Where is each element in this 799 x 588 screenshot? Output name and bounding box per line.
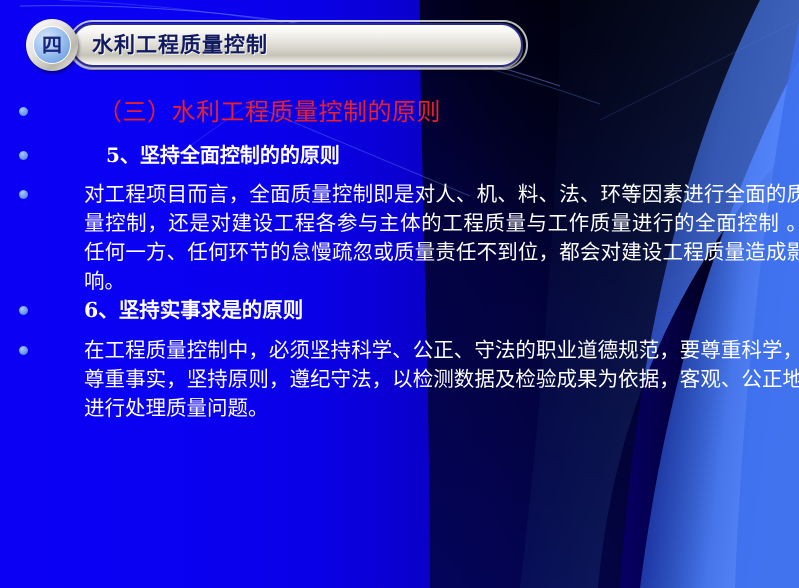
bullet-item-5: 5、坚持全面控制的的原则 <box>0 140 799 170</box>
bullet-text: 5、坚持全面控制的的原则 <box>42 140 799 170</box>
bullet-text: 6、坚持实事求是的原则 <box>42 296 799 325</box>
bullet-item-5-body: 对工程项目而言，全面质量控制即是对人、机、料、法、环等因素进行全面的质量控制，还… <box>0 180 799 296</box>
bullet-dot-icon <box>19 306 28 315</box>
bullet-item-heading-principles: （三）水利工程质量控制的原则 <box>0 96 799 128</box>
section-number-badge: 四 <box>26 19 78 71</box>
section-number-badge-inner: 四 <box>33 26 71 64</box>
bullet-text: 对工程项目而言，全面质量控制即是对人、机、料、法、环等因素进行全面的质量控制，还… <box>42 180 799 296</box>
bullet-item-6: 6、坚持实事求是的原则 <box>0 296 799 325</box>
slide-title: 水利工程质量控制 <box>92 22 268 68</box>
bullet-dot-icon <box>19 107 28 116</box>
bullet-dot-icon <box>19 190 28 199</box>
section-number-label: 四 <box>42 35 62 55</box>
bullet-dot-icon <box>19 151 28 160</box>
bullet-text: 在工程质量控制中，必须坚持科学、公正、守法的职业道德规范，要尊重科学，尊重事实，… <box>42 336 799 423</box>
presentation-slide: 四 水利工程质量控制 （三）水利工程质量控制的原则 5、坚持全面控制的的原则 对… <box>0 0 799 588</box>
bullet-dot-icon <box>19 346 28 355</box>
bullet-text: （三）水利工程质量控制的原则 <box>42 96 799 128</box>
bullet-item-6-body: 在工程质量控制中，必须坚持科学、公正、守法的职业道德规范，要尊重科学，尊重事实，… <box>0 336 799 423</box>
